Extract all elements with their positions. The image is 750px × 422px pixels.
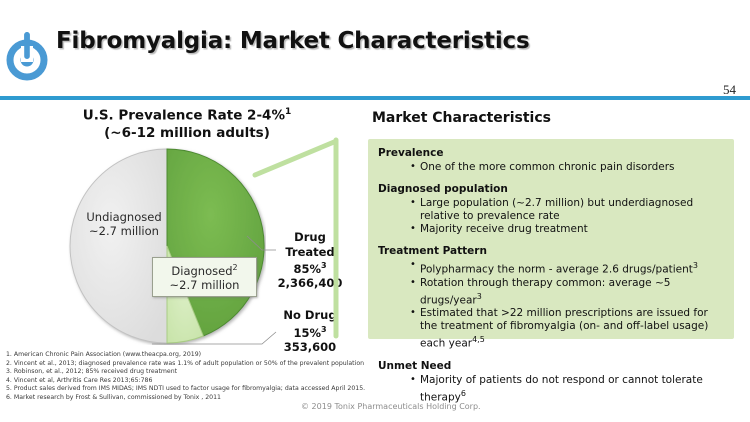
bullet-text: Rotation through therapy common: average… <box>420 277 670 307</box>
list-item: Polypharmacy the norm - average 2.6 drug… <box>410 259 724 277</box>
prevalence-pie-chart <box>68 147 266 345</box>
footnote-item: 1. American Chronic Pain Association (ww… <box>6 351 436 360</box>
market-panel-title: Market Characteristics <box>372 110 551 126</box>
pie-label-no-drug-superscript: 3 <box>321 325 327 334</box>
copyright-notice: © 2019 Tonix Pharmaceuticals Holding Cor… <box>301 402 481 411</box>
chart-heading-line2: (~6-12 million adults) <box>104 125 270 141</box>
bullet-text: One of the more common chronic pain diso… <box>420 161 675 173</box>
bullet-text: Estimated that >22 million prescriptions… <box>420 307 708 350</box>
pie-label-no-drug-pct: 15% <box>293 325 321 339</box>
bullet-text: Large population (~2.7 million) but unde… <box>420 197 693 222</box>
section-heading: Diagnosed population <box>378 183 724 196</box>
footnote-list: 1. American Chronic Pain Association (ww… <box>6 351 436 403</box>
pie-label-drug-treated-line1: Drug <box>294 230 326 244</box>
pie-callout-diagnosed-value: ~2.7 million <box>170 278 240 292</box>
bullet-text: Polypharmacy the norm - average 2.6 drug… <box>420 264 693 276</box>
chart-heading: U.S. Prevalence Rate 2-4%1 (~6-12 millio… <box>52 104 322 142</box>
chart-heading-line1: U.S. Prevalence Rate 2-4% <box>83 108 285 124</box>
list-item: Large population (~2.7 million) but unde… <box>410 197 724 223</box>
bullet-superscript: 4,5 <box>472 335 485 344</box>
pie-label-drug-treated-superscript: 3 <box>321 261 327 270</box>
page-number: 54 <box>723 82 736 98</box>
bullet-list: Polypharmacy the norm - average 2.6 drug… <box>378 259 724 351</box>
bullet-superscript: 3 <box>693 261 698 270</box>
footnote-item: 2. Vincent et al., 2013; diagnosed preva… <box>6 360 436 369</box>
section-diagnosed-population: Diagnosed population Large population (~… <box>378 183 724 236</box>
list-item: Majority of patients do not respond or c… <box>410 374 724 405</box>
bullet-superscript: 6 <box>461 389 466 398</box>
list-item: Majority receive drug treatment <box>410 223 724 236</box>
footnote-item: 4. Vincent et al, Arthritis Care Res 201… <box>6 377 436 386</box>
market-characteristics-panel: Prevalence One of the more common chroni… <box>368 139 734 339</box>
section-treatment-pattern: Treatment Pattern Polypharmacy the norm … <box>378 245 724 351</box>
section-heading: Prevalence <box>378 147 724 160</box>
pie-label-undiagnosed-line2: ~2.7 million <box>89 224 159 238</box>
pie-label-drug-treated-count: 2,366,400 <box>278 276 343 290</box>
pie-label-undiagnosed-line1: Undiagnosed <box>86 210 161 224</box>
bullet-list: Large population (~2.7 million) but unde… <box>378 197 724 236</box>
list-item: One of the more common chronic pain diso… <box>410 161 724 174</box>
page-title: Fibromyalgia: Market Characteristics <box>56 28 529 54</box>
pie-callout-diagnosed-superscript: 2 <box>233 263 238 272</box>
pie-label-no-drug: No Drug 15%3 353,600 <box>262 308 358 354</box>
chart-heading-superscript: 1 <box>285 107 291 117</box>
section-heading: Treatment Pattern <box>378 245 724 258</box>
bullet-superscript: 3 <box>477 292 482 301</box>
list-item: Rotation through therapy common: average… <box>410 277 724 308</box>
pie-slice-undiagnosed <box>70 149 167 343</box>
pie-label-undiagnosed: Undiagnosed ~2.7 million <box>78 210 170 238</box>
footnote-item: 3. Robinson, et al., 2012; 85% received … <box>6 368 436 377</box>
footnote-item: 5. Product sales derived from IMS MIDAS;… <box>6 385 436 394</box>
pie-label-drug-treated-pct: 85% <box>293 262 321 276</box>
section-prevalence: Prevalence One of the more common chroni… <box>378 147 724 174</box>
bullet-text: Majority receive drug treatment <box>420 223 588 235</box>
power-button-logo-icon <box>6 24 48 82</box>
bullet-list: One of the more common chronic pain diso… <box>378 161 724 174</box>
pie-callout-diagnosed-label: Diagnosed <box>171 264 232 278</box>
pie-label-drug-treated-line2: Treated <box>285 245 334 259</box>
company-logo <box>6 24 48 82</box>
pie-label-no-drug-line1: No Drug <box>283 308 336 322</box>
pie-label-drug-treated: Drug Treated 85%3 2,366,400 <box>262 230 358 291</box>
list-item: Estimated that >22 million prescriptions… <box>410 307 724 351</box>
pie-callout-diagnosed: Diagnosed2 ~2.7 million <box>152 257 257 297</box>
